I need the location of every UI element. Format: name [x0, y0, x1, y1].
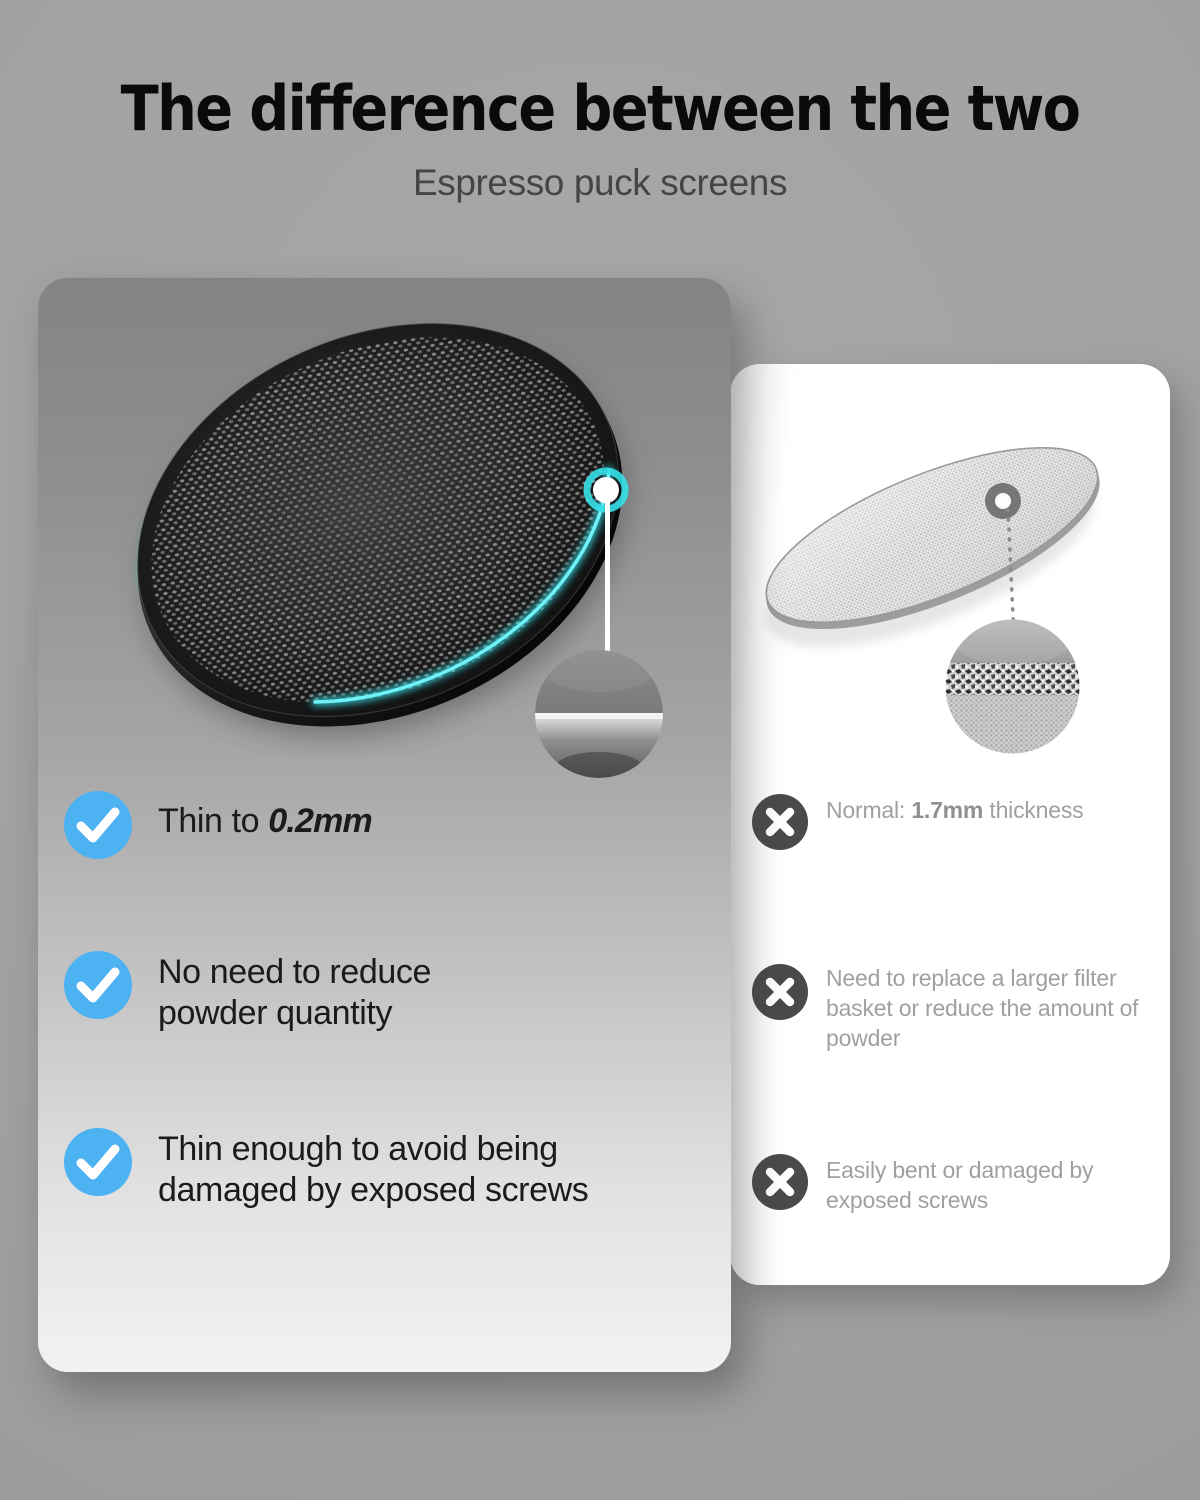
list-item-label: Easily bent or damaged by exposed screws	[826, 1156, 1146, 1216]
header: The difference between the two Espresso …	[0, 0, 1200, 204]
list-item: Normal: 1.7mm thickness	[752, 794, 1162, 850]
comparison-card-normal: Normal: 1.7mm thickness Need to replace …	[730, 364, 1170, 1285]
list-item: Easily bent or damaged by exposed screws	[752, 1154, 1162, 1216]
page-subtitle: Espresso puck screens	[0, 140, 1200, 204]
list-item: Thin enough to avoid being damaged by ex…	[64, 1128, 704, 1211]
feature-list-thin: Thin to 0.2mm No need to reduce powder q…	[38, 278, 731, 1372]
check-icon	[64, 951, 132, 1019]
list-item-label: Thin to 0.2mm	[158, 801, 372, 842]
list-item-label: No need to reduce powder quantity	[158, 952, 508, 1034]
feature-list-normal: Normal: 1.7mm thickness Need to replace …	[730, 364, 1170, 1285]
x-icon	[752, 794, 808, 850]
page-title: The difference between the two	[0, 0, 1200, 140]
x-icon	[752, 964, 808, 1020]
list-item: Need to replace a larger filter basket o…	[752, 964, 1167, 1054]
x-icon	[752, 1154, 808, 1210]
list-item-label: Need to replace a larger filter basket o…	[826, 964, 1166, 1054]
comparison-card-thin: Thin to 0.2mm No need to reduce powder q…	[38, 278, 731, 1372]
list-item-label: Thin enough to avoid being damaged by ex…	[158, 1129, 678, 1211]
list-item: No need to reduce powder quantity	[64, 951, 704, 1034]
list-item-label: Normal: 1.7mm thickness	[826, 796, 1083, 826]
list-item: Thin to 0.2mm	[64, 791, 704, 859]
check-icon	[64, 1128, 132, 1196]
check-icon	[64, 791, 132, 859]
